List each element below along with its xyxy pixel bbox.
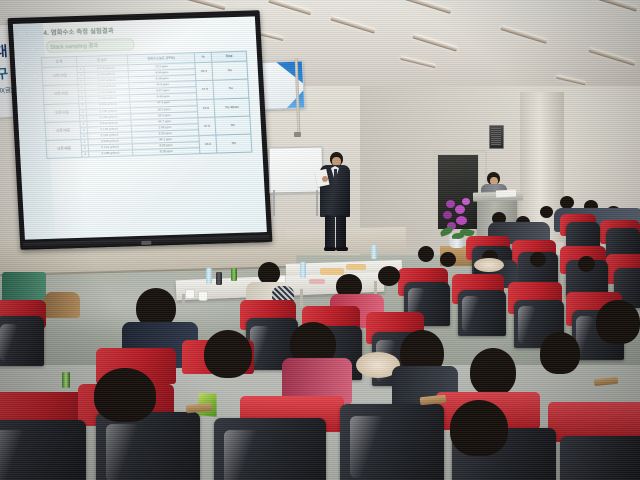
orchid-petal [456,216,467,225]
audience-head [440,252,456,267]
seat-highlight [462,296,480,332]
seat-highlight [224,430,260,480]
snowflake-icon: ❄ [21,85,29,94]
audience-head [540,332,580,374]
audience-head [94,368,156,422]
presenter-leg [336,215,346,249]
seat-highlight [106,424,140,480]
cell-date: 10월 30일 [43,85,79,104]
cell-percent: 44.0 [199,135,217,154]
seat-highlight [0,324,18,362]
wooden-box [44,292,80,318]
beverage-can [231,268,237,281]
whiteboard-leg [316,190,318,216]
orchid-petal [443,211,452,219]
armrest [594,377,619,386]
presenter-shoe [336,247,348,251]
presenter-shoe [324,247,336,251]
table-body: 10월 29일10.276 g/Sm373.2 ppm49.37hr20.116… [42,61,252,159]
audience-head [450,400,508,456]
presenter-necktie [334,169,337,181]
audience-head [204,330,252,378]
seat-highlight [350,416,384,478]
snack-plate [320,268,344,275]
lectern-papers [496,189,516,197]
audience-head [530,252,546,267]
cell-percent: 53.6 [197,99,215,118]
cell-percent: 49.3 [195,62,213,81]
wall-speaker [489,125,504,149]
table-leg [300,289,303,307]
snowflake-icon: ❄ [17,58,29,71]
paper-cup [198,291,208,301]
snowflake-icon: ❄ [17,30,27,41]
cell-time: 7hr [216,134,252,153]
orchid-petal [462,198,470,205]
cell-date: 11월 06일 [45,121,81,140]
cell-hcl: 8.18 ppm [132,148,200,156]
cell-time: 7hr [212,61,248,80]
presenter-hand [322,176,328,182]
cell-date: 11월 02일 [44,103,80,122]
screen-surface: ❄ ❄ ❄ ❄ ❄ 4. 염화수소 측정 실험결과 Stack sampling… [13,16,267,239]
snowflake-icon: ❄ [29,45,36,53]
lecture-hall-photo: 대 구 · 20(금) 발표회 표회 대구대학교 환경공학과 ❄ ❄ ❄ ❄ ❄… [0,0,640,480]
projection-screen: ❄ ❄ ❄ ❄ ❄ 4. 염화수소 측정 실험결과 Stack sampling… [8,10,273,250]
audience-head [258,262,280,284]
presenter-leg [325,215,335,249]
screen-pull-handle[interactable] [141,241,151,245]
audience-head [540,206,553,218]
cell-percent: 47.5 [196,80,214,99]
banner-pole-cap [294,132,301,137]
audience-head [418,246,434,262]
paper-cup [185,289,195,299]
audience-head [378,266,400,286]
speaker-grille [491,128,501,145]
slide-title: 4. 염화수소 측정 실험결과 [43,26,114,37]
presentation-slide: ❄ ❄ ❄ ❄ ❄ 4. 염화수소 측정 실험결과 Stack sampling… [13,16,267,239]
beverage-can [62,372,70,388]
water-bottle [300,262,306,278]
whiteboard [269,147,324,194]
cell-time: 7hr [215,116,251,135]
cell-concentration: 0.198 g/Sm3 [88,150,132,157]
orchid-petal [446,200,455,208]
left-banner-line1: 대 [0,41,7,62]
beverage-can [216,272,222,285]
fur-hood-trim [474,258,504,272]
audience-head [596,300,640,344]
seat-back [560,436,640,480]
snack-plate [346,264,366,270]
seat-highlight [518,306,536,344]
audience-head [578,256,595,272]
seat-highlight [0,430,26,480]
audience-head [470,348,516,396]
cell-date: 11월 08일 [46,139,82,158]
slide-results-table: 날 짜 총 농도 염화수소농도 (PPM) % Time 10월 29일10.2… [41,51,253,160]
slide-bullet-text: Stack sampling 결과 [50,41,98,50]
cell-time: 7hr 40min [214,98,250,117]
water-bottle [206,268,212,284]
cell-date: 10월 29일 [42,66,78,85]
orchid-petal [455,205,465,214]
whiteboard-leg [273,190,275,216]
col-percent: % [195,52,212,63]
snack-plate [309,279,325,284]
cell-time: 7hr [213,79,249,98]
water-bottle [371,245,377,259]
cell-percent: 47.5 [198,117,216,136]
snowflake-icon: ❄ [32,73,38,80]
